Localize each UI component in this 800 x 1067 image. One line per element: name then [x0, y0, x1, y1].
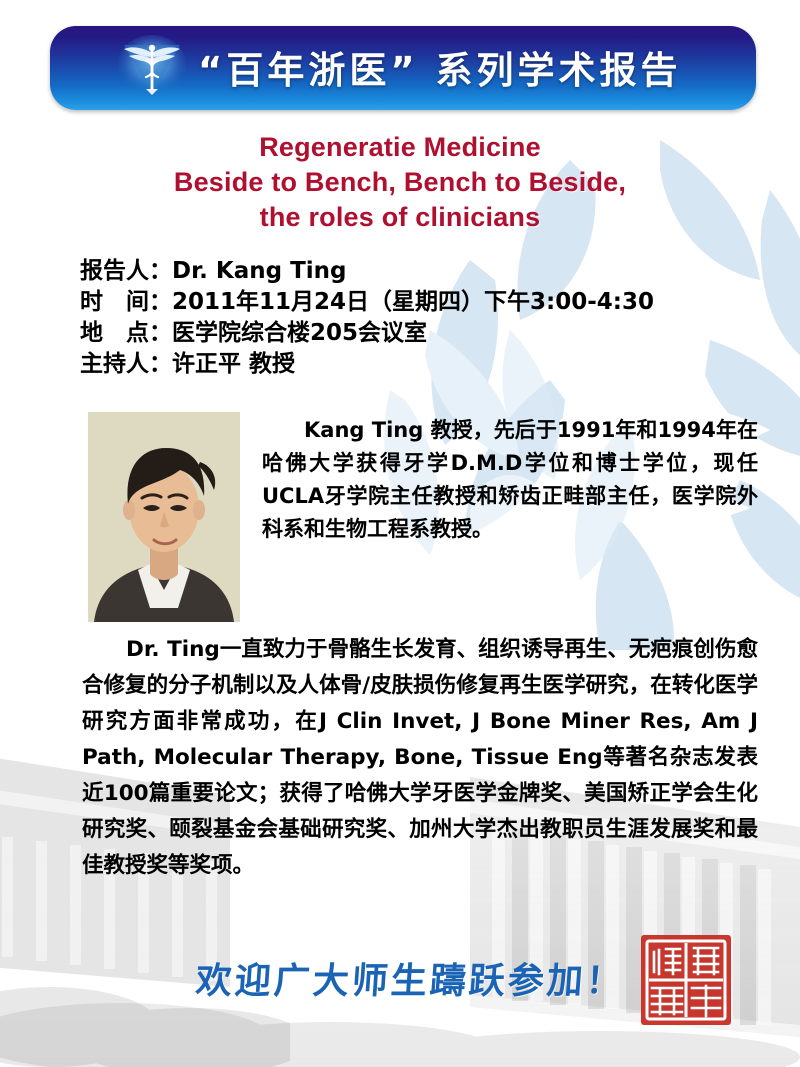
detail-label-time: 时 间：	[80, 289, 172, 315]
caduceus-icon	[116, 35, 188, 101]
speaker-photo	[88, 412, 240, 622]
speaker-bio-body-text: Dr. Ting一直致力于骨骼生长发育、组织诱导再生、无疤痕创伤愈合修复的分子机…	[82, 637, 758, 878]
banner-title: “百年浙医” 系列学术报告	[198, 40, 682, 94]
title-line-3: the roles of clinicians	[0, 200, 800, 235]
detail-row-speaker: 报告人：Dr. Kang Ting	[80, 256, 654, 287]
red-seal-stamp	[638, 932, 734, 1028]
detail-label-host: 主持人：	[80, 351, 172, 377]
speaker-bio-intro: Kang Ting 教授，先后于1991年和1994年在哈佛大学获得牙学D.M.…	[262, 414, 758, 546]
page-title: Regeneratie Medicine Beside to Bench, Be…	[0, 130, 800, 235]
title-line-1: Regeneratie Medicine	[0, 130, 800, 165]
detail-value-time: 2011年11月24日（星期四）下午3:00-4:30	[172, 289, 654, 315]
detail-row-host: 主持人：许正平 教授	[80, 349, 654, 380]
detail-value-speaker: Dr. Kang Ting	[172, 258, 347, 284]
event-details: 报告人：Dr. Kang Ting 时 间：2011年11月24日（星期四）下午…	[80, 256, 654, 380]
speaker-portrait-illustration	[88, 412, 240, 622]
title-line-2: Beside to Bench, Bench to Beside,	[0, 165, 800, 200]
detail-label-speaker: 报告人：	[80, 258, 172, 284]
detail-row-location: 地 点：医学院综合楼205会议室	[80, 318, 654, 349]
detail-label-location: 地 点：	[80, 320, 172, 346]
header-banner: “百年浙医” 系列学术报告	[50, 26, 756, 110]
speaker-bio-body: Dr. Ting一直致力于骨骼生长发育、组织诱导再生、无疤痕创伤愈合修复的分子机…	[82, 632, 758, 884]
speaker-bio-intro-text: Kang Ting 教授，先后于1991年和1994年在哈佛大学获得牙学D.M.…	[262, 418, 758, 541]
welcome-message: 欢迎广大师生躊跃参加！	[194, 952, 627, 1004]
detail-value-location: 医学院综合楼205会议室	[172, 320, 427, 346]
detail-value-host: 许正平 教授	[172, 351, 295, 377]
detail-row-time: 时 间：2011年11月24日（星期四）下午3:00-4:30	[80, 287, 654, 318]
seminar-poster: “百年浙医” 系列学术报告 Regeneratie Medicine Besid…	[0, 0, 800, 1067]
